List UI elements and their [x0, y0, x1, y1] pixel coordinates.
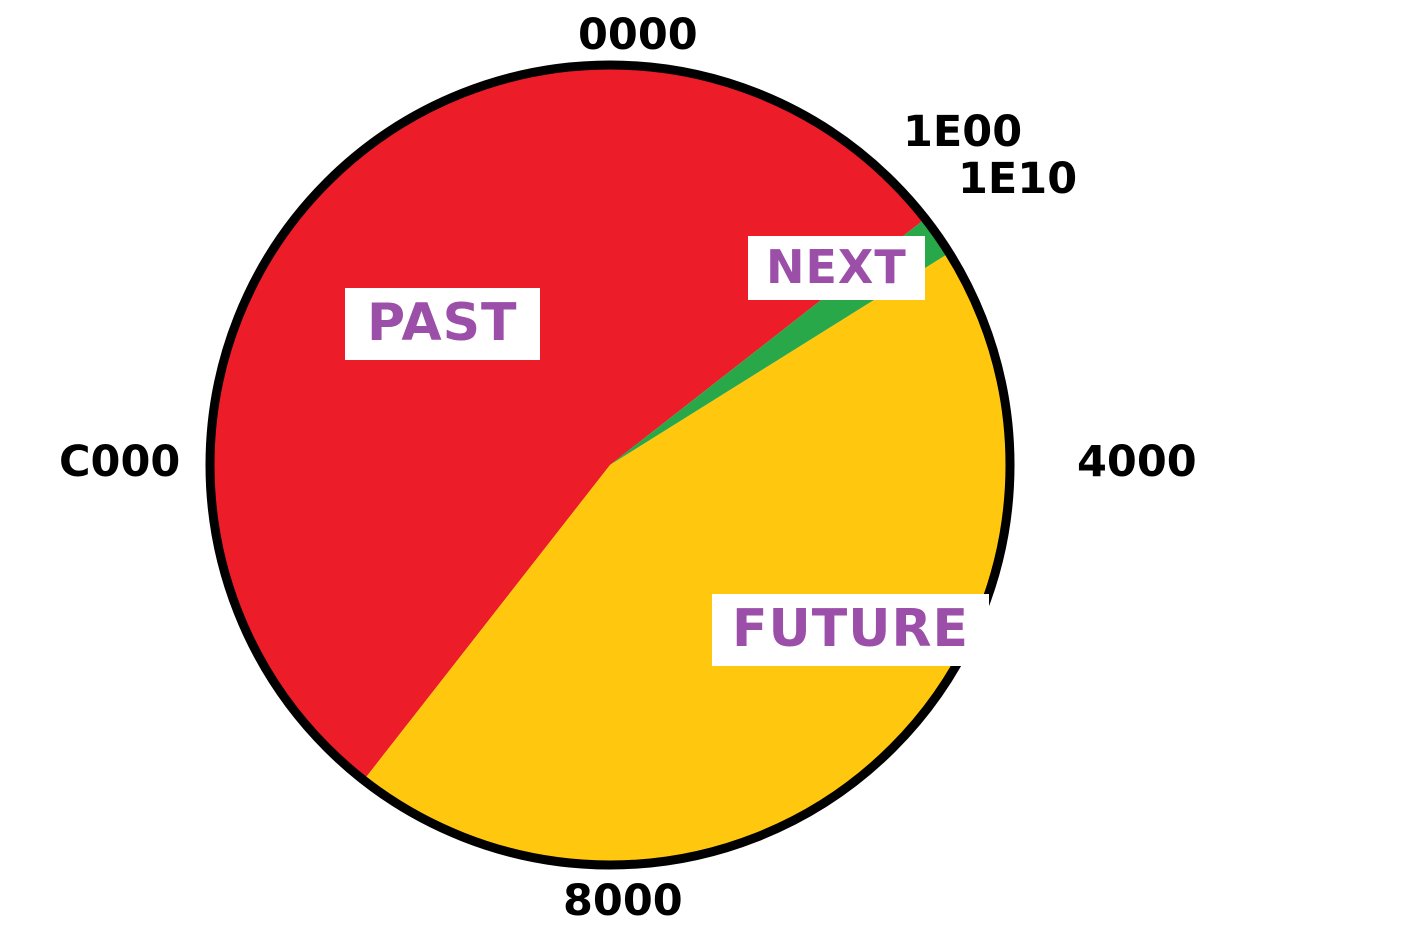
- tick-label-4000: 4000: [1077, 437, 1197, 487]
- sector-label-future: FUTURE: [712, 594, 989, 666]
- sector-label-past: PAST: [345, 288, 540, 360]
- tick-label-0000: 0000: [578, 10, 698, 60]
- sector-label-next: NEXT: [748, 236, 925, 300]
- tick-label-1e10: 1E10: [958, 154, 1077, 204]
- pie-chart-canvas: 0000 1E00 1E10 4000 8000 C000 PAST NEXT …: [0, 0, 1404, 949]
- tick-label-8000: 8000: [563, 876, 683, 926]
- tick-label-1e00: 1E00: [903, 107, 1022, 157]
- tick-label-c000: C000: [59, 437, 180, 487]
